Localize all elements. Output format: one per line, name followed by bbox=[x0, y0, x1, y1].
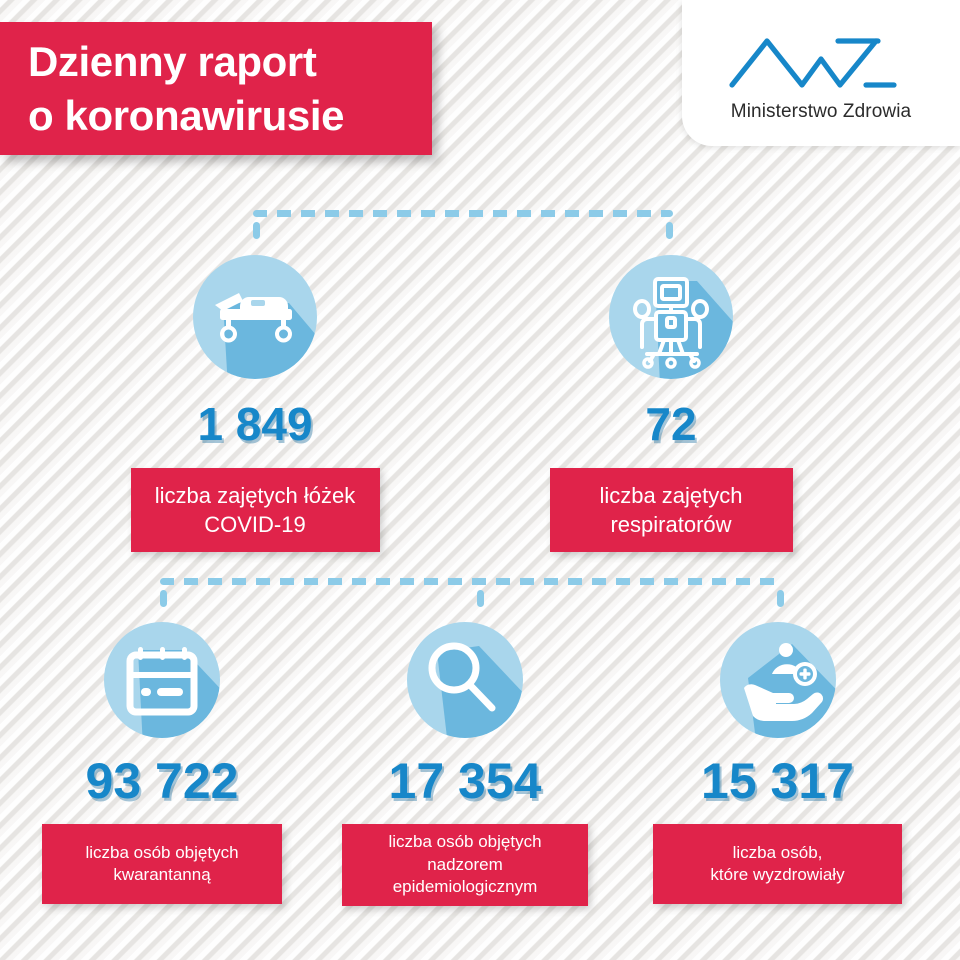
stat-label-beds: liczba zajętych łóżek COVID-19 bbox=[131, 468, 380, 552]
ministry-logo-caption: Ministerstwo Zdrowia bbox=[731, 101, 911, 123]
stat-label-beds-line2: COVID-19 bbox=[204, 510, 305, 539]
title-banner: Dzienny raport o koronawirusie bbox=[0, 22, 432, 155]
stat-label-supervision-line1: liczba osób objętych bbox=[388, 831, 541, 853]
connector-stub-row2-left bbox=[160, 590, 167, 607]
stat-label-ventilators: liczba zajętych respiratorów bbox=[550, 468, 793, 552]
connector-stub-row1-left bbox=[253, 222, 260, 239]
stat-label-ventilators-line1: liczba zajętych bbox=[599, 481, 742, 510]
stat-value-ventilators: 72 bbox=[645, 401, 696, 447]
stat-label-supervision-line3: epidemiologicznym bbox=[393, 876, 538, 898]
stat-cell-quarantine: 93 722 liczba osób objętych kwarantanną bbox=[42, 622, 282, 904]
stat-value-supervision: 17 354 bbox=[389, 756, 542, 806]
stat-cell-ventilators: 72 liczba zajętych respiratorów bbox=[548, 255, 794, 552]
title-line-1: Dzienny raport bbox=[28, 35, 414, 89]
stat-label-quarantine-line1: liczba osób objętych bbox=[85, 842, 238, 864]
connector-horizontal-row2 bbox=[160, 578, 784, 585]
connector-stub-row2-middle bbox=[477, 590, 484, 607]
mz-zigzag-logo-icon bbox=[726, 29, 916, 95]
hand-care-icon bbox=[720, 622, 836, 738]
title-line-2: o koronawirusie bbox=[28, 89, 414, 143]
stat-label-beds-line1: liczba zajętych łóżek bbox=[155, 481, 356, 510]
hospital-stretcher-icon bbox=[193, 255, 317, 379]
stat-value-recovered: 15 317 bbox=[701, 756, 854, 806]
stat-cell-supervision: 17 354 liczba osób objętych nadzorem epi… bbox=[342, 622, 588, 906]
magnifier-icon bbox=[407, 622, 523, 738]
connector-horizontal-row1 bbox=[253, 210, 673, 217]
ministry-logo-card: Ministerstwo Zdrowia bbox=[682, 0, 960, 146]
ventilator-icon bbox=[609, 255, 733, 379]
calendar-icon bbox=[104, 622, 220, 738]
stat-value-quarantine: 93 722 bbox=[86, 756, 239, 806]
connector-stub-row1-right bbox=[666, 222, 673, 239]
stat-label-quarantine-line2: kwarantanną bbox=[113, 864, 210, 886]
stat-label-recovered-line2: które wyzdrowiały bbox=[710, 864, 844, 886]
stat-cell-beds: 1 849 liczba zajętych łóżek COVID-19 bbox=[125, 255, 385, 552]
stat-label-ventilators-line2: respiratorów bbox=[610, 510, 731, 539]
stat-label-supervision-line2: nadzorem bbox=[427, 854, 503, 876]
connector-stub-row2-right bbox=[777, 590, 784, 607]
stat-label-recovered: liczba osób, które wyzdrowiały bbox=[653, 824, 902, 904]
infographic-canvas: Dzienny raport o koronawirusie Ministers… bbox=[0, 0, 960, 960]
stat-label-supervision: liczba osób objętych nadzorem epidemiolo… bbox=[342, 824, 588, 906]
stat-cell-recovered: 15 317 liczba osób, które wyzdrowiały bbox=[653, 622, 902, 904]
stat-value-beds: 1 849 bbox=[197, 401, 312, 447]
stat-label-recovered-line1: liczba osób, bbox=[733, 842, 823, 864]
stat-label-quarantine: liczba osób objętych kwarantanną bbox=[42, 824, 282, 904]
